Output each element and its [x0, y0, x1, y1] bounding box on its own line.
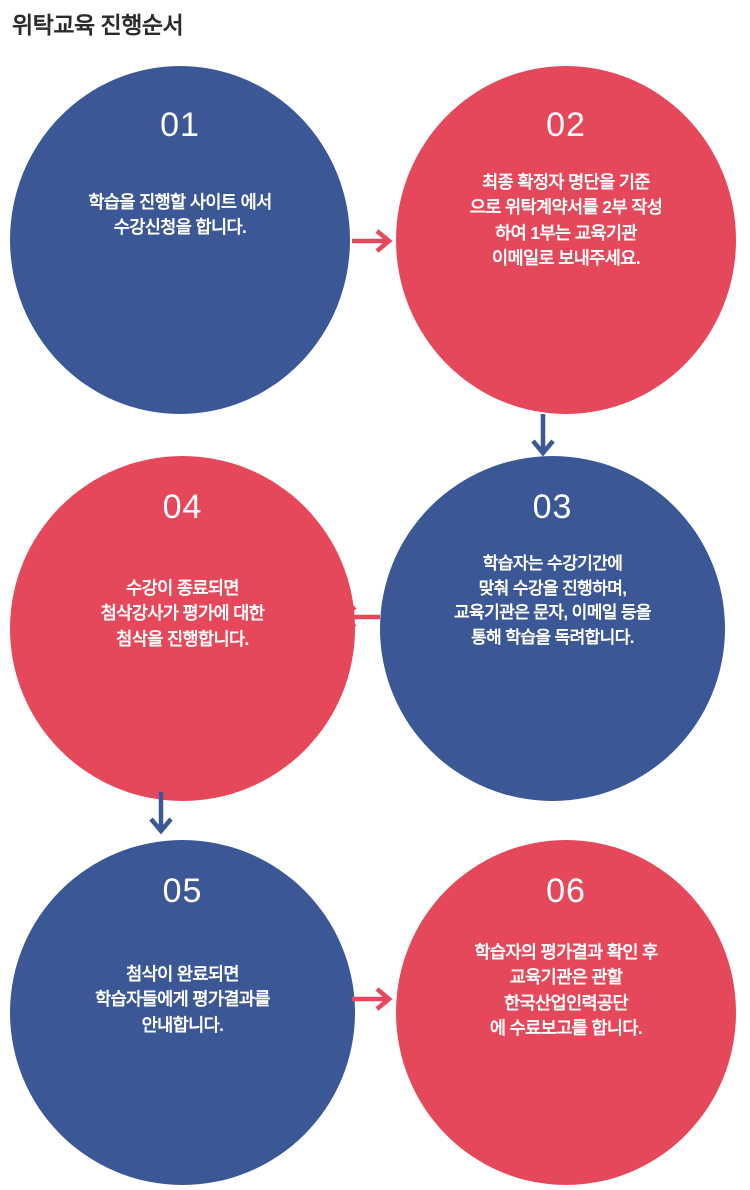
arrow-down-icon-step4-to-step5	[148, 792, 174, 840]
step-text-06: 학습자의 평가결과 확인 후 교육기관은 관할 한국산업인력공단 에 수료보고를…	[468, 940, 663, 1042]
step-number-06: 06	[546, 874, 586, 908]
arrow-left-icon-step3-to-step4	[334, 604, 380, 630]
step-text-04: 수강이 종료되면 첨삭강사가 평가에 대한 첨삭을 진행합니다.	[95, 576, 271, 652]
step-circle-01: 01 학습을 진행할 사이트 에서 수강신청을 합니다.	[10, 66, 350, 414]
step-circle-04: 04 수강이 종료되면 첨삭강사가 평가에 대한 첨삭을 진행합니다.	[10, 456, 355, 801]
arrow-right-icon-step5-to-step6	[352, 986, 398, 1012]
arrow-right-icon-step1-to-step2	[352, 228, 398, 254]
step-circle-06: 06 학습자의 평가결과 확인 후 교육기관은 관할 한국산업인력공단 에 수료…	[396, 840, 736, 1185]
step-text-01: 학습을 진행할 사이트 에서 수강신청을 합니다.	[82, 190, 277, 241]
step-text-05: 첨삭이 완료되면 학습자들에게 평가결과를 안내합니다.	[89, 962, 276, 1038]
step-circle-05: 05 첨삭이 완료되면 학습자들에게 평가결과를 안내합니다.	[10, 840, 355, 1185]
step-text-02: 최종 확정자 명단을 기준 으로 위탁계약서를 2부 작성 하여 1부는 교육기…	[464, 170, 668, 272]
step-text-03: 학습자는 수강기간에 맞춰 수강을 진행하며, 교육기관은 문자, 이메일 등을…	[448, 552, 657, 651]
step-number-05: 05	[163, 874, 203, 908]
step-number-01: 01	[160, 108, 200, 142]
infographic-canvas: 위탁교육 진행순서 01 학습을 진행할 사이트 에서 수강신청을 합니다. 0…	[0, 0, 750, 1190]
step-circle-03: 03 학습자는 수강기간에 맞춰 수강을 진행하며, 교육기관은 문자, 이메일…	[380, 456, 725, 801]
step-number-03: 03	[533, 490, 573, 524]
step-number-02: 02	[546, 108, 586, 142]
arrow-down-icon-step2-to-step3	[530, 414, 556, 462]
step-number-04: 04	[163, 490, 203, 524]
step-circle-02: 02 최종 확정자 명단을 기준 으로 위탁계약서를 2부 작성 하여 1부는 …	[396, 66, 736, 414]
page-title: 위탁교육 진행순서	[12, 6, 183, 40]
